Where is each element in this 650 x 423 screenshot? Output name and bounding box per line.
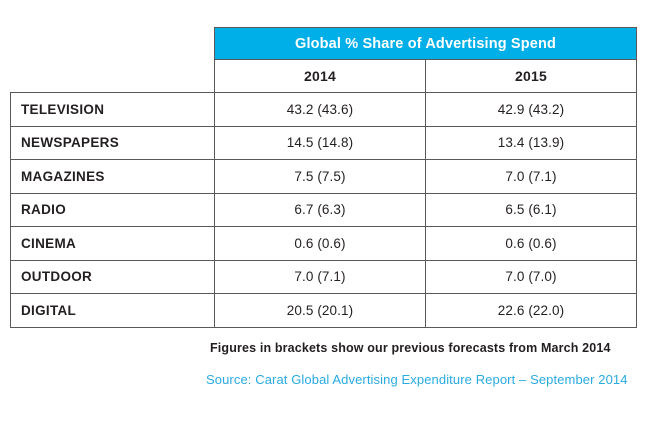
column-header-2014: 2014 bbox=[215, 60, 426, 93]
value-newspapers-2014: 14.5 (14.8) bbox=[215, 126, 426, 160]
advertising-spend-table-wrapper: Global % Share of Advertising Spend 2014… bbox=[10, 27, 636, 328]
value-cinema-2014: 0.6 (0.6) bbox=[215, 227, 426, 261]
table-row: NEWSPAPERS 14.5 (14.8) 13.4 (13.9) bbox=[11, 126, 637, 160]
table-body: TELEVISION 43.2 (43.6) 42.9 (43.2) NEWSP… bbox=[11, 93, 637, 328]
row-label-cinema: CINEMA bbox=[11, 227, 215, 261]
value-digital-2014: 20.5 (20.1) bbox=[215, 294, 426, 328]
value-radio-2014: 6.7 (6.3) bbox=[215, 193, 426, 227]
table-row: OUTDOOR 7.0 (7.1) 7.0 (7.0) bbox=[11, 260, 637, 294]
banner-spacer-cell bbox=[11, 28, 215, 60]
document-page: Global % Share of Advertising Spend 2014… bbox=[0, 0, 650, 423]
value-radio-2015: 6.5 (6.1) bbox=[426, 193, 637, 227]
value-outdoor-2015: 7.0 (7.0) bbox=[426, 260, 637, 294]
brackets-note: Figures in brackets show our previous fo… bbox=[210, 341, 611, 355]
table-head: Global % Share of Advertising Spend 2014… bbox=[11, 28, 637, 93]
year-header-row: 2014 2015 bbox=[11, 60, 637, 93]
row-label-newspapers: NEWSPAPERS bbox=[11, 126, 215, 160]
table-row: CINEMA 0.6 (0.6) 0.6 (0.6) bbox=[11, 227, 637, 261]
value-television-2015: 42.9 (43.2) bbox=[426, 93, 637, 127]
table-row: TELEVISION 43.2 (43.6) 42.9 (43.2) bbox=[11, 93, 637, 127]
value-magazines-2015: 7.0 (7.1) bbox=[426, 160, 637, 194]
table-row: RADIO 6.7 (6.3) 6.5 (6.1) bbox=[11, 193, 637, 227]
column-header-2015: 2015 bbox=[426, 60, 637, 93]
value-television-2014: 43.2 (43.6) bbox=[215, 93, 426, 127]
row-label-television: TELEVISION bbox=[11, 93, 215, 127]
value-magazines-2014: 7.5 (7.5) bbox=[215, 160, 426, 194]
row-label-radio: RADIO bbox=[11, 193, 215, 227]
value-digital-2015: 22.6 (22.0) bbox=[426, 294, 637, 328]
table-banner-title: Global % Share of Advertising Spend bbox=[215, 28, 637, 60]
value-newspapers-2015: 13.4 (13.9) bbox=[426, 126, 637, 160]
row-label-digital: DIGITAL bbox=[11, 294, 215, 328]
table-row: MAGAZINES 7.5 (7.5) 7.0 (7.1) bbox=[11, 160, 637, 194]
value-outdoor-2014: 7.0 (7.1) bbox=[215, 260, 426, 294]
row-label-magazines: MAGAZINES bbox=[11, 160, 215, 194]
source-note: Source: Carat Global Advertising Expendi… bbox=[206, 372, 628, 387]
value-cinema-2015: 0.6 (0.6) bbox=[426, 227, 637, 261]
advertising-spend-table: Global % Share of Advertising Spend 2014… bbox=[10, 27, 637, 328]
banner-row: Global % Share of Advertising Spend bbox=[11, 28, 637, 60]
row-label-outdoor: OUTDOOR bbox=[11, 260, 215, 294]
table-row: DIGITAL 20.5 (20.1) 22.6 (22.0) bbox=[11, 294, 637, 328]
year-spacer-cell bbox=[11, 60, 215, 93]
